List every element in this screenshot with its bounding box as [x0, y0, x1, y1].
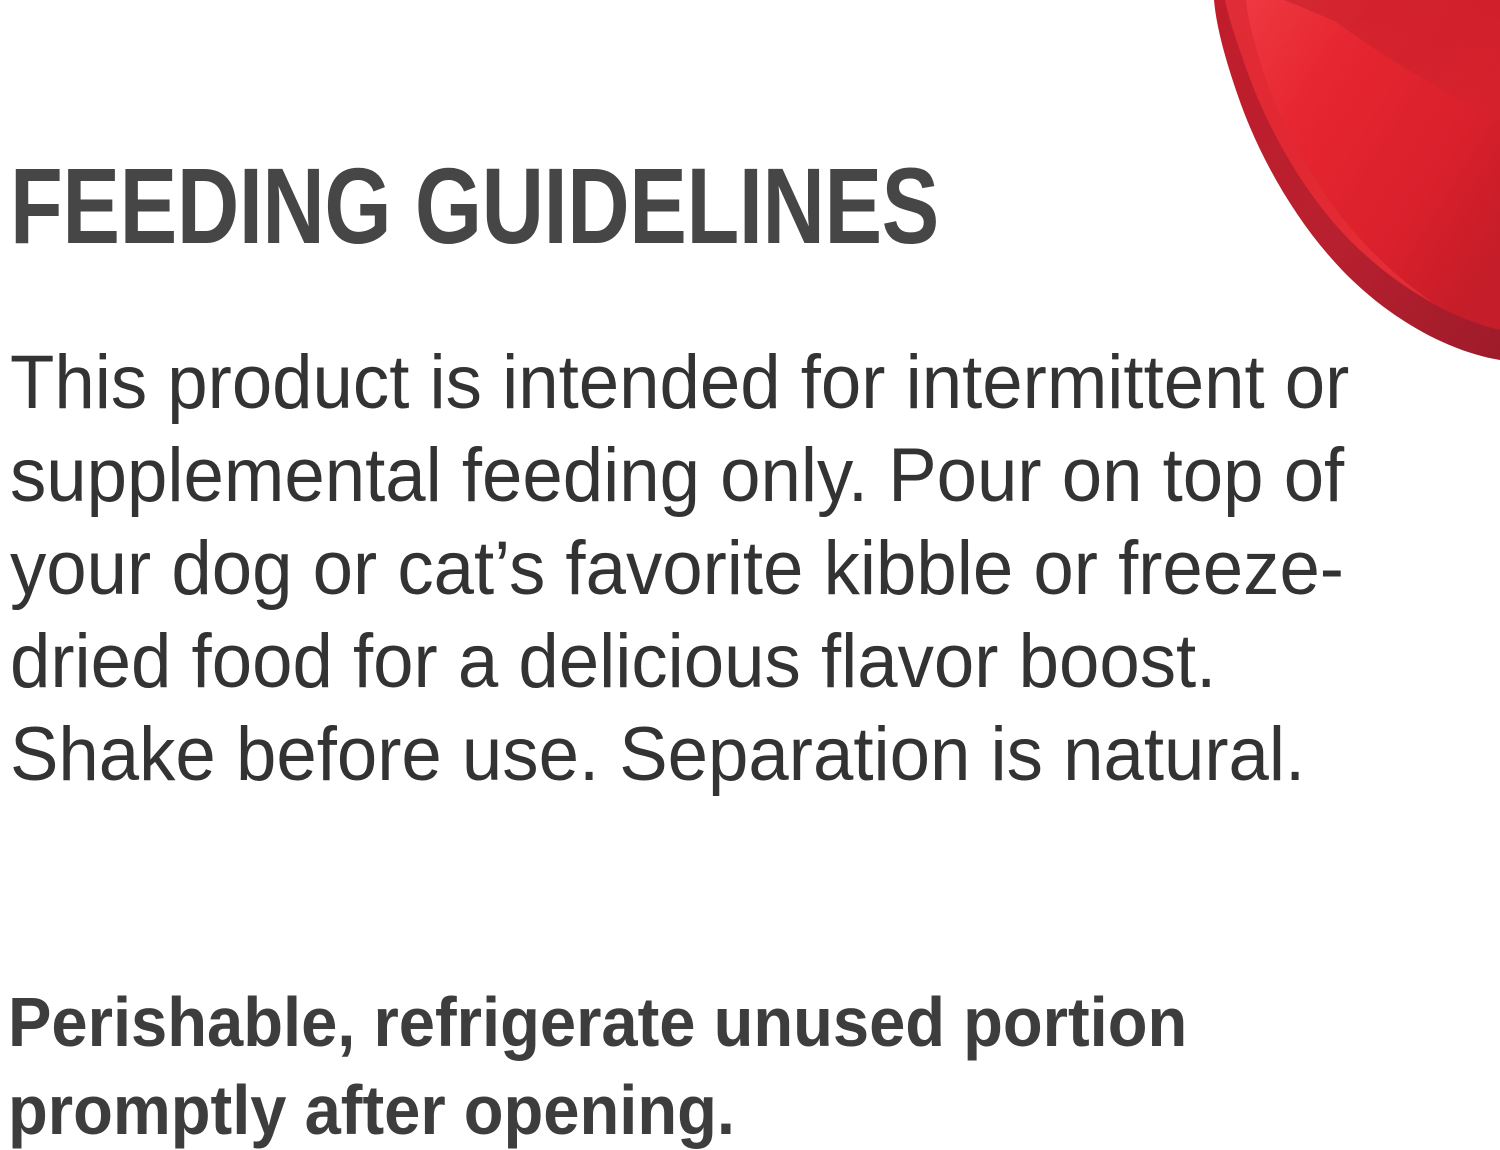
storage-note-text: Perishable, refrigerate unused portion p… — [8, 978, 1329, 1150]
feeding-instructions-text: This product is intended for intermitten… — [10, 336, 1376, 801]
swoosh-top-wedge — [1284, 0, 1500, 120]
swoosh-shadow-band — [1214, 0, 1500, 360]
page-title: FEEDING GUIDELINES — [10, 152, 939, 260]
swoosh-main-body — [1225, 0, 1500, 330]
feeding-guidelines-panel: FEEDING GUIDELINES This product is inten… — [0, 0, 1500, 1150]
swoosh-edge-highlight — [1225, 0, 1432, 302]
